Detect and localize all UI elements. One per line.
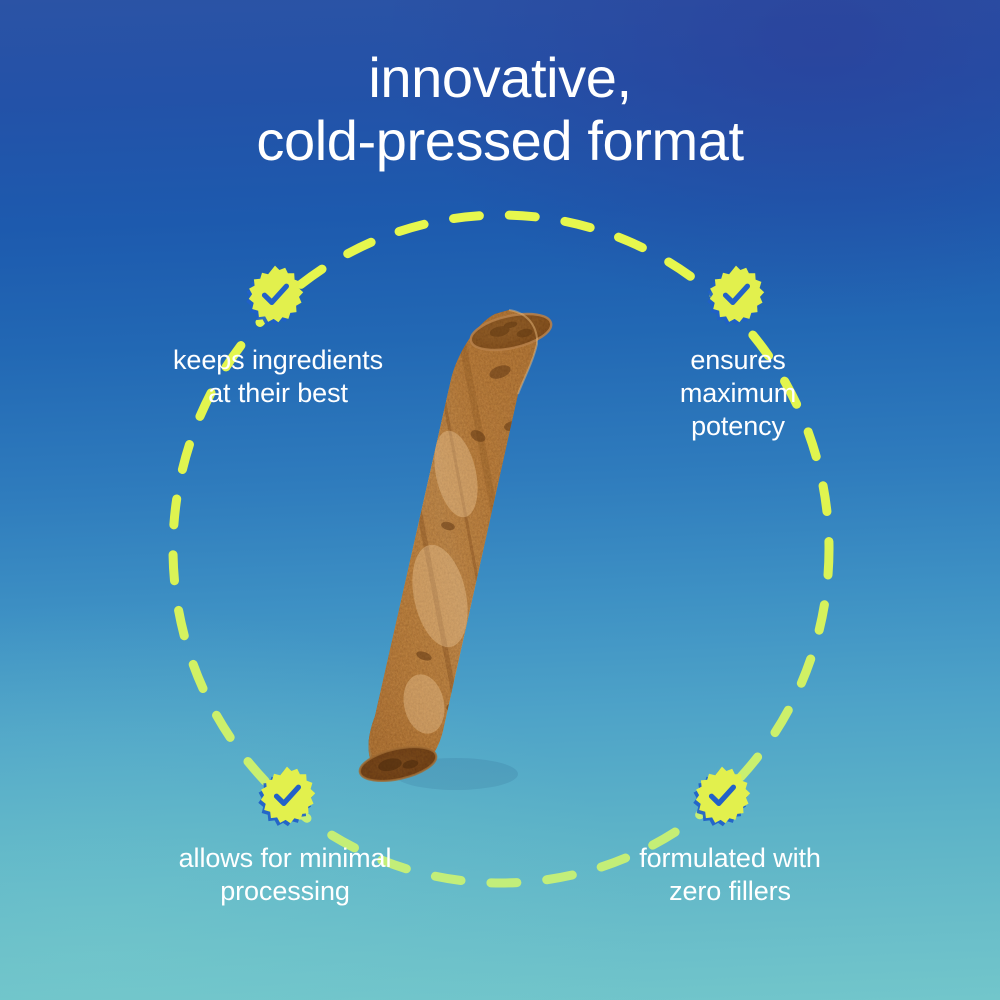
- feature-label-keeps-ingredients: keeps ingredients at their best: [108, 344, 448, 410]
- feature-label-minimal-processing: allows for minimal processing: [110, 842, 460, 908]
- check-badge-icon-top-left: [243, 263, 307, 327]
- page-title-line2: cold-pressed format: [0, 109, 1000, 172]
- check-badge-icon-bottom-right: [690, 764, 754, 828]
- feature-label-maximum-potency: ensures maximum potency: [608, 344, 868, 443]
- page-title-line1: innovative,: [0, 46, 1000, 109]
- page-title: innovative, cold-pressed format: [0, 46, 1000, 173]
- feature-label-zero-fillers: formulated with zero fillers: [560, 842, 900, 908]
- promo-poster: innovative, cold-pressed format: [0, 0, 1000, 1000]
- check-badge-icon-bottom-left: [255, 764, 319, 828]
- check-badge-icon-top-right: [704, 263, 768, 327]
